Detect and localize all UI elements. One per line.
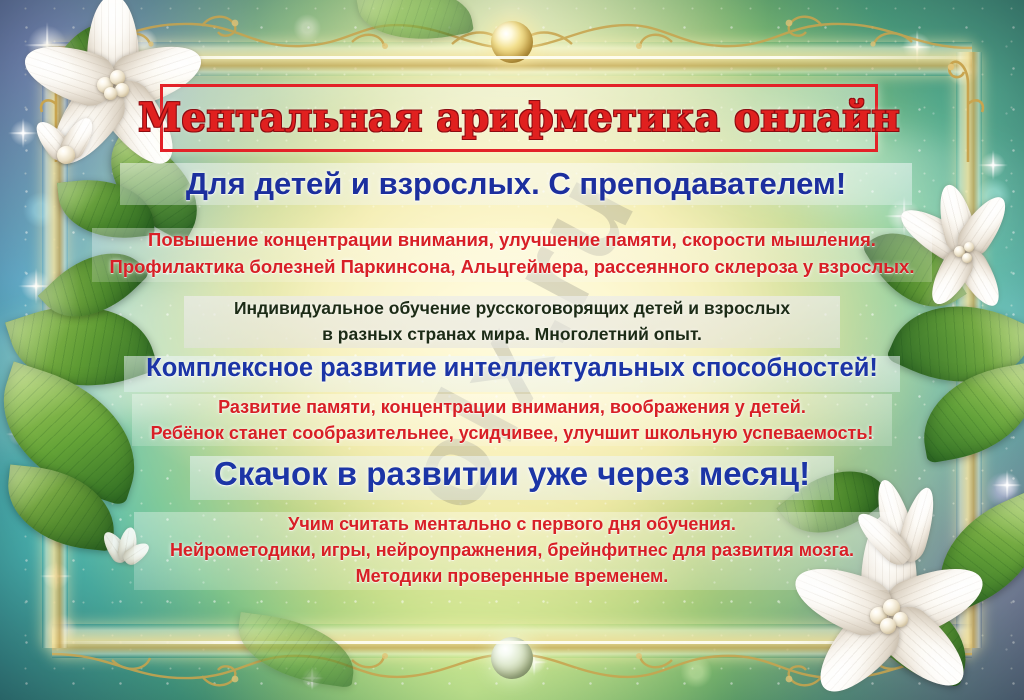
development-block: Развитие памяти, концентрации внимания, … xyxy=(0,394,1024,446)
poster-subtitle-row: Для детей и взрослых. С преподавателем! xyxy=(120,163,912,205)
methods-line-1: Учим считать ментально с первого дня обу… xyxy=(288,511,736,537)
development-line-1: Развитие памяти, концентрации внимания, … xyxy=(218,394,806,420)
poster-title-box: Ментальная арифметика онлайн xyxy=(160,84,878,152)
complex-development-heading: Комплексное развитие интеллектуальных сп… xyxy=(146,354,878,383)
methods-line-2: Нейрометодики, игры, нейроупражнения, бр… xyxy=(170,537,854,563)
poster-title: Ментальная арифметика онлайн xyxy=(138,95,900,141)
individual-line-1: Индивидуальное обучение русскоговорящих … xyxy=(234,295,790,321)
poster-canvas: olx.ru Ментальная арифметика онлайн Для … xyxy=(0,0,1024,700)
poster-content: Ментальная арифметика онлайн Для детей и… xyxy=(0,0,1024,700)
individual-training-block: Индивидуальное обучение русскоговорящих … xyxy=(0,295,1024,347)
benefits-line-1: Повышение концентрации внимания, улучшен… xyxy=(148,226,876,253)
leap-heading: Скачок в развитии уже через месяц! xyxy=(214,455,810,493)
methods-block: Учим считать ментально с первого дня обу… xyxy=(0,511,1024,589)
development-line-2: Ребёнок станет сообразительнее, усидчиве… xyxy=(151,420,874,446)
individual-line-2: в разных странах мира. Многолетний опыт. xyxy=(322,321,702,347)
poster-subtitle: Для детей и взрослых. С преподавателем! xyxy=(186,166,846,202)
leap-heading-block: Скачок в развитии уже через месяц! xyxy=(0,455,1024,493)
complex-development-heading-block: Комплексное развитие интеллектуальных сп… xyxy=(0,354,1024,383)
benefits-line-2: Профилактика болезней Паркинсона, Альцге… xyxy=(110,253,915,280)
benefits-block: Повышение концентрации внимания, улучшен… xyxy=(0,226,1024,280)
methods-line-3: Методики проверенные временем. xyxy=(356,563,669,589)
